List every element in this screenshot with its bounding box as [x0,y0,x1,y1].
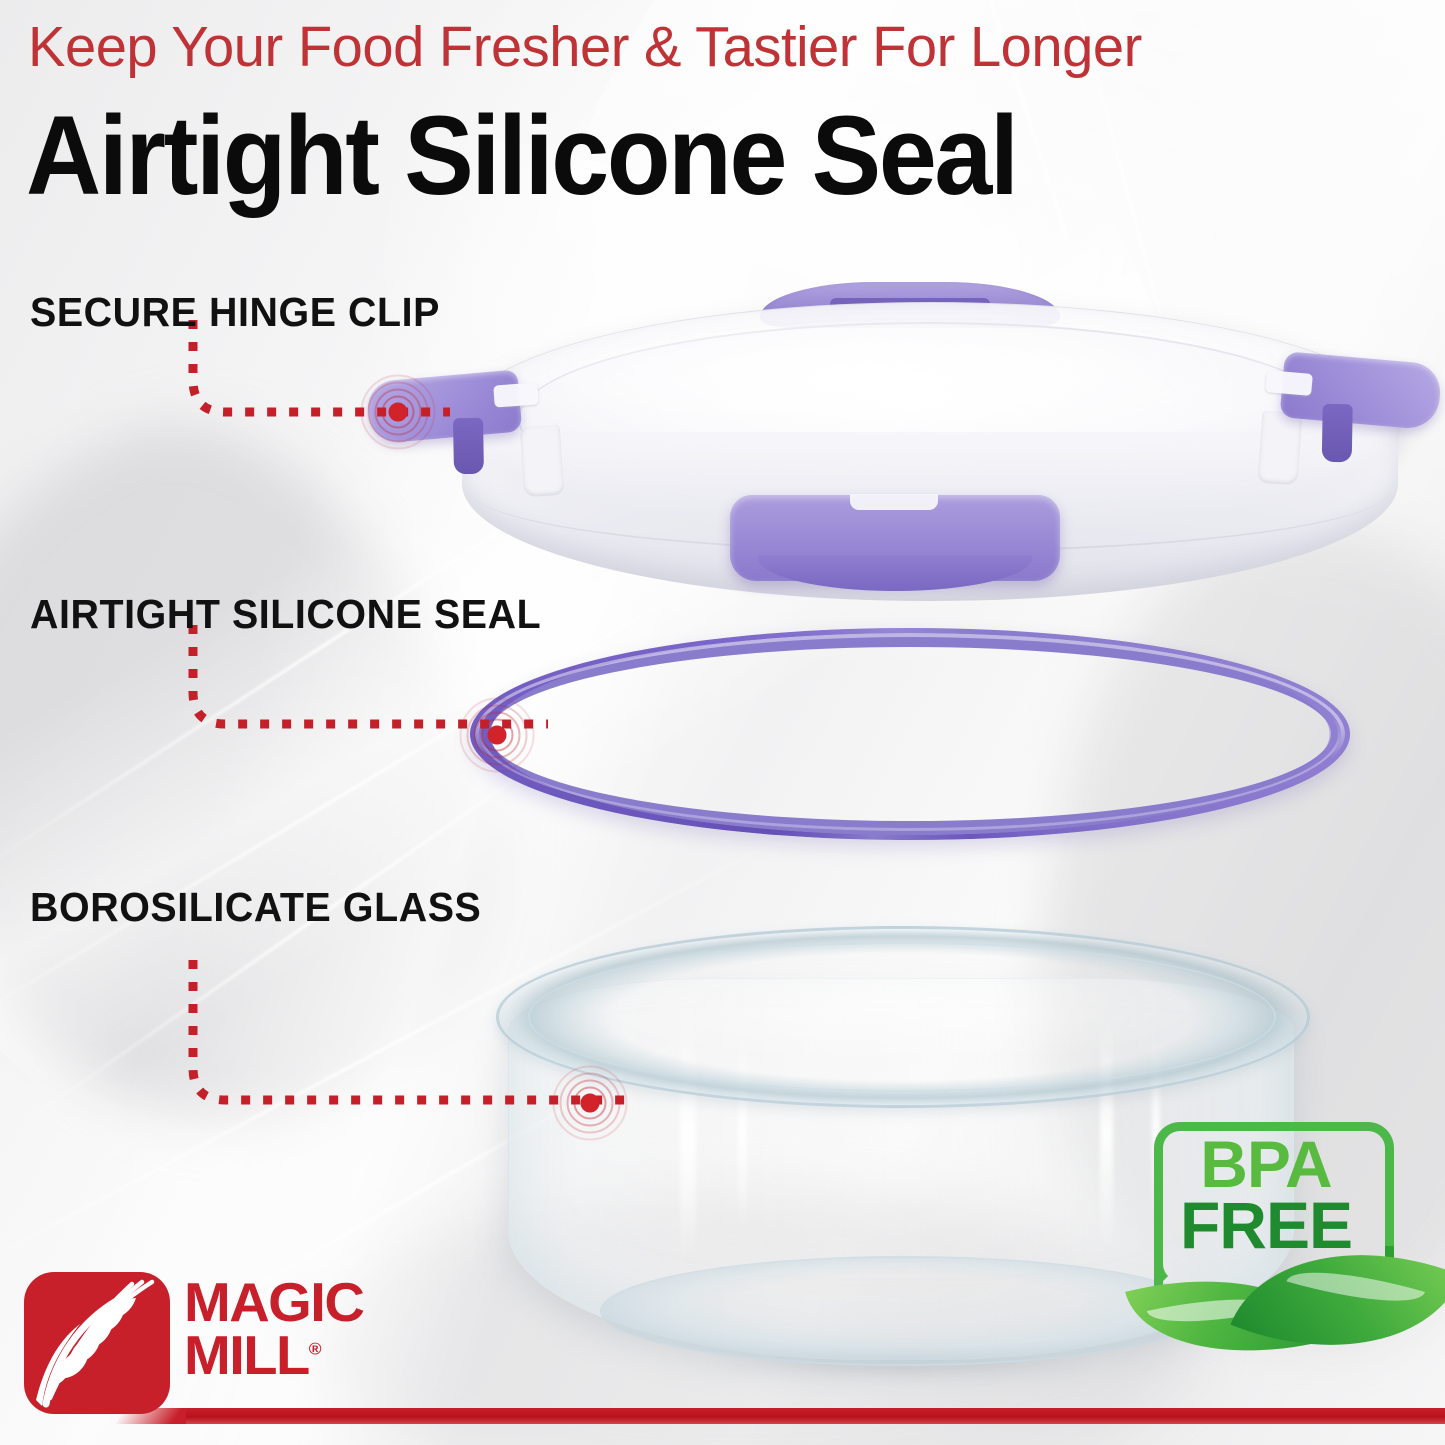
lid-right-hinge-notch [1265,370,1313,396]
infographic-canvas: Keep Your Food Fresher & Tastier For Lon… [0,0,1445,1445]
wheat-stalk-icon [24,1272,170,1414]
footer-accent-stripe [186,1408,1445,1424]
registered-trademark-icon: ® [309,1339,322,1358]
seal-ring-highlight-bottom [479,637,1341,831]
bpa-badge-text: BPA FREE [1166,1134,1366,1255]
feature-label-borosilicate-glass: BOROSILICATE GLASS [30,884,481,931]
feature-label-airtight-silicone-seal: AIRTIGHT SILICONE SEAL [30,591,541,638]
bowl-inner-rim [528,942,1276,1092]
lid-front-clip [730,495,1060,581]
logo-line-mill: MILL® [184,1329,363,1382]
lid-right-lug [1258,411,1303,486]
lid-left-lug [520,425,565,498]
product-silicone-seal [470,628,1350,840]
page-title: Airtight Silicone Seal [26,100,1017,212]
logo-line-magic: MAGIC [184,1276,363,1329]
logo-wordmark: MAGIC MILL® [184,1276,360,1382]
brand-logo: MAGIC MILL® [24,1272,484,1418]
kicker-headline: Keep Your Food Fresher & Tastier For Lon… [28,18,1399,77]
bpa-free-badge: BPA FREE [1140,1118,1420,1398]
bpa-badge-line1: BPA [1166,1134,1366,1195]
bpa-badge-line2: FREE [1166,1195,1366,1256]
bowl-base [600,1256,1208,1366]
product-lid [430,280,1430,610]
feature-label-secure-hinge-clip: SECURE HINGE CLIP [30,289,440,336]
lid-left-hinge-notch [493,382,538,407]
logo-mark [24,1272,170,1414]
